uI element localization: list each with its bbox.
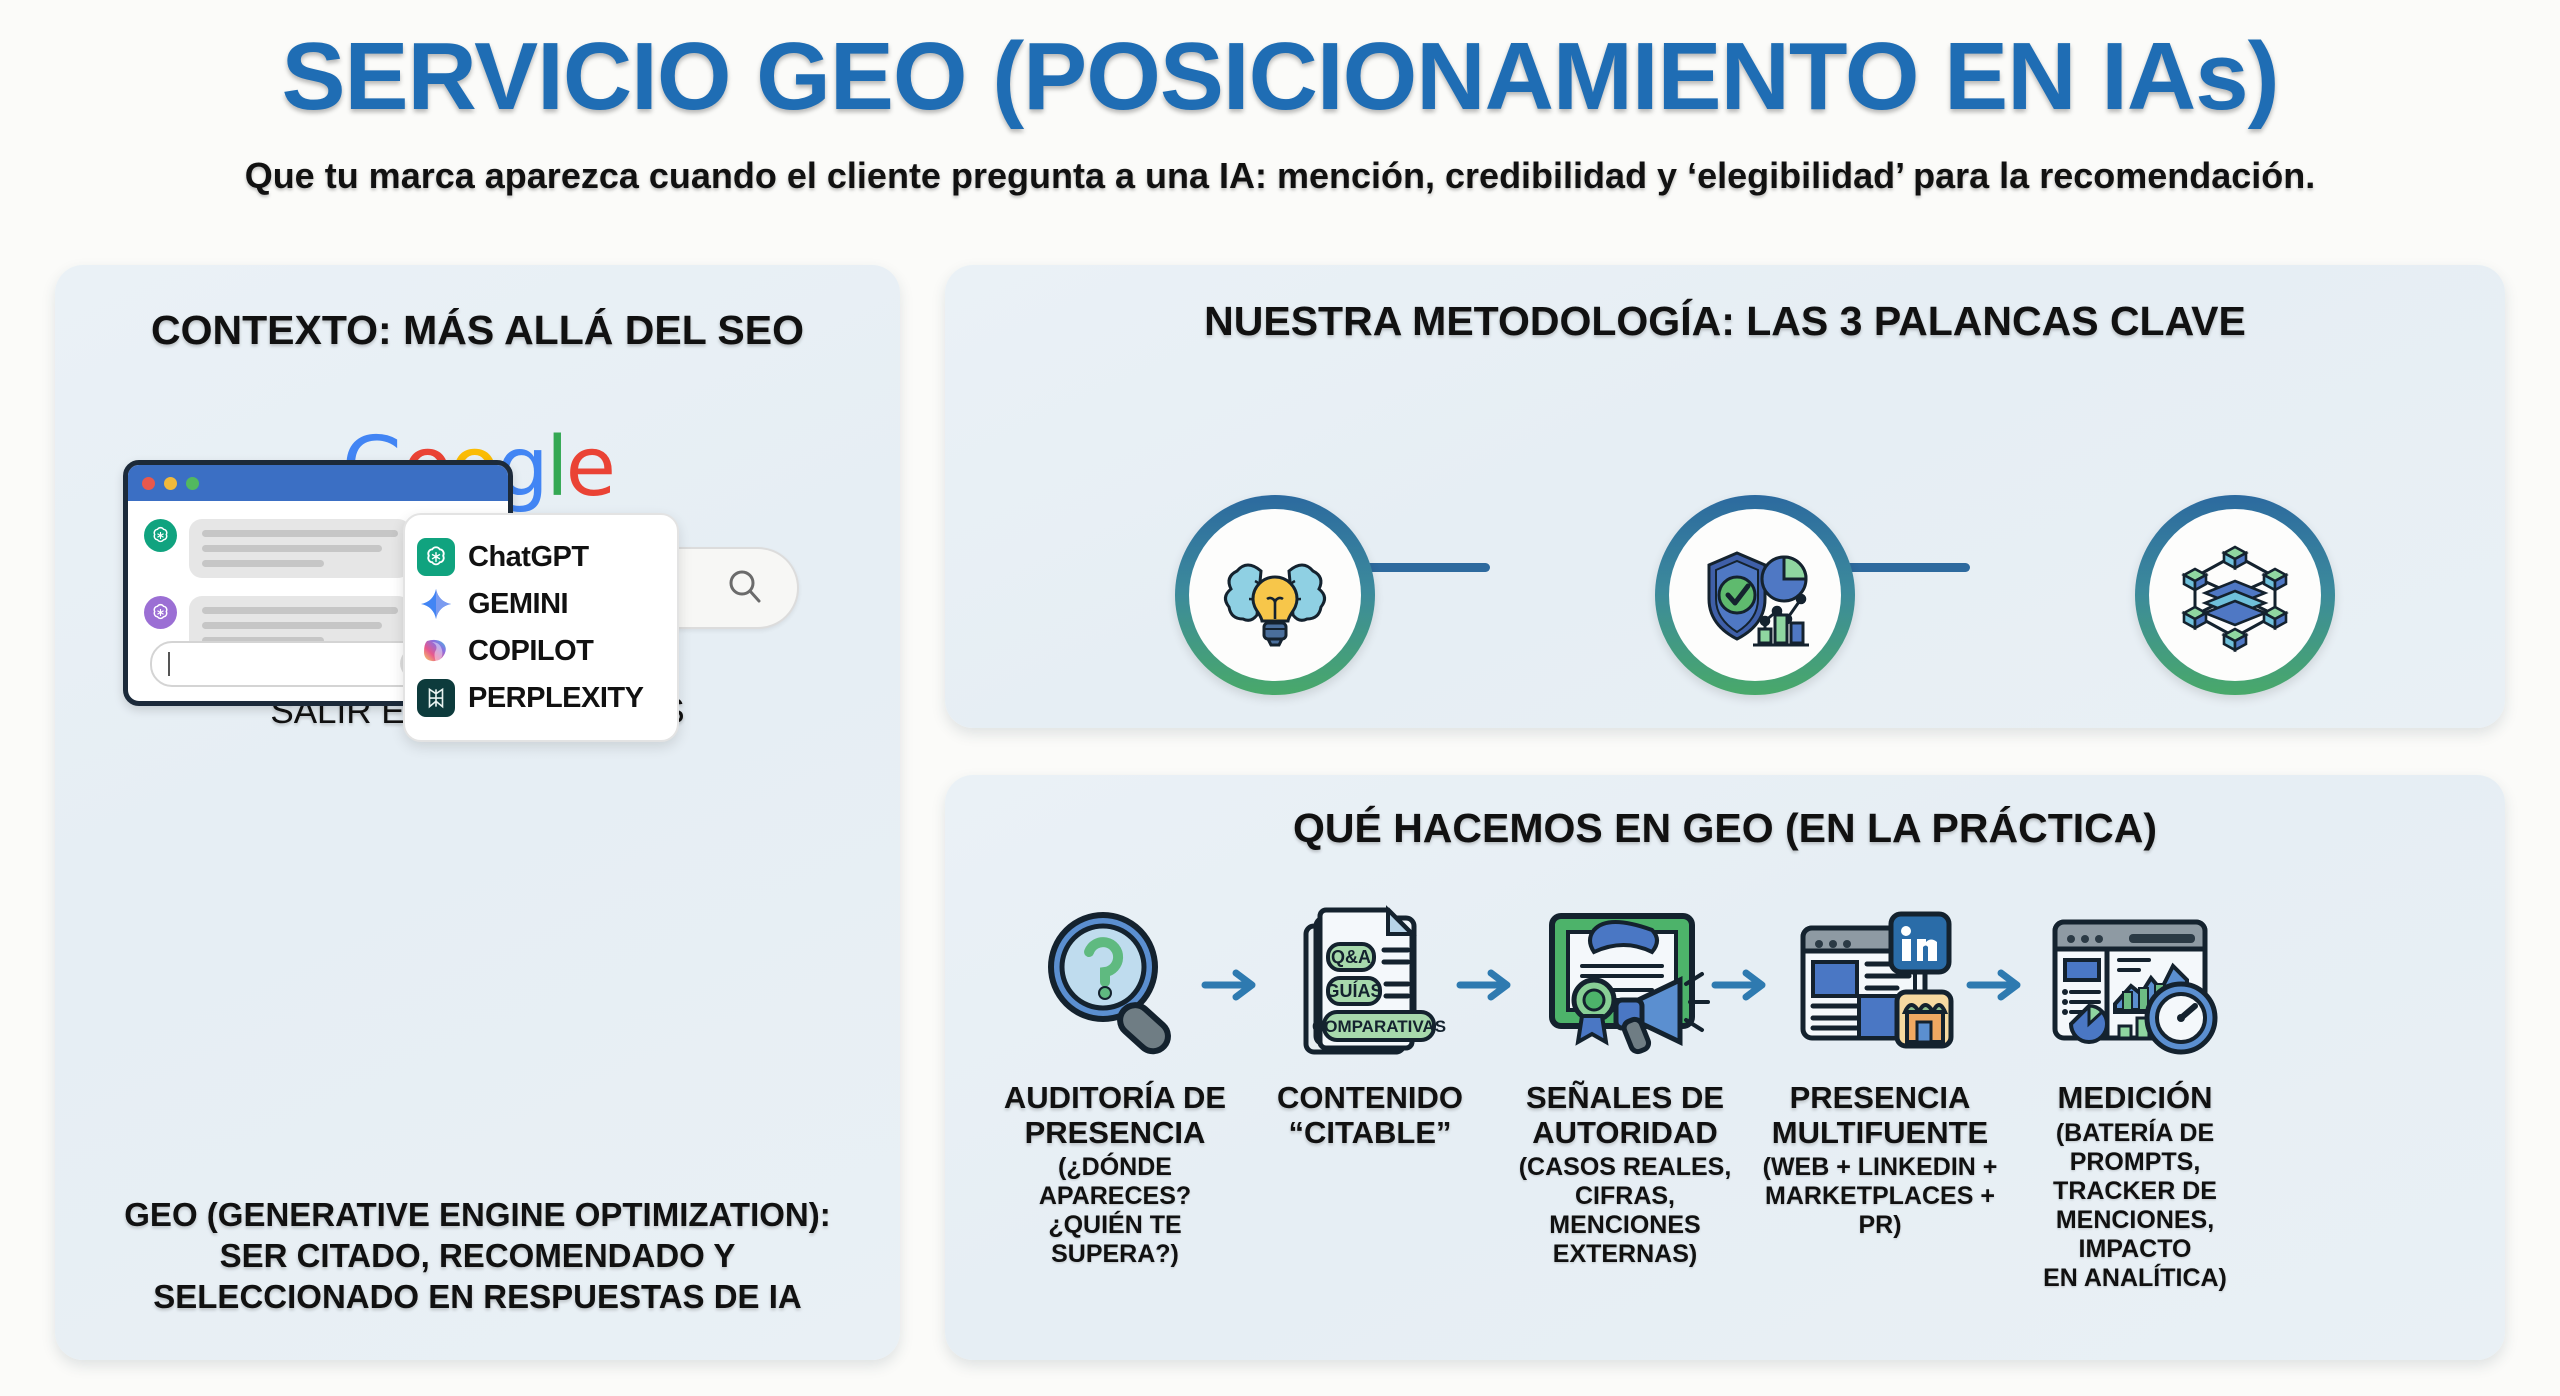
context-panel: CONTEXTO: MÁS ALLÁ DEL SEO Google SEO TR… — [55, 265, 900, 1360]
geo-definition-label: GEO (GENERATIVE ENGINE OPTIMIZATION): SE… — [55, 1195, 900, 1318]
dashboard-gauge-icon — [2010, 890, 2260, 1075]
tag-guias-label: GUÍAS — [1325, 980, 1382, 1001]
ai-engine-name: ChatGPT — [468, 541, 589, 574]
ai-engine-item: PERPLEXITY — [417, 679, 665, 717]
chat-bubble — [189, 519, 411, 578]
assistant-avatar-icon — [144, 596, 177, 629]
practice-panel-title: QUÉ HACEMOS EN GEO (EN LA PRÁCTICA) — [945, 805, 2505, 852]
step-title: CONTENIDO“CITABLE” — [1245, 1081, 1495, 1150]
lever-ring — [1175, 495, 1375, 695]
text-line — [202, 607, 398, 614]
text-line — [202, 530, 398, 537]
gemini-icon — [417, 585, 455, 623]
step-sub: (WEB + LINKEDIN +MARKETPLACES + PR) — [1755, 1153, 2005, 1240]
step-title: MEDICIÓN — [2010, 1081, 2260, 1116]
magnifier-question-icon — [990, 890, 1240, 1075]
step-sub: (BATERÍA DE PROMPTS,TRACKER DEMENCIONES,… — [2010, 1119, 2260, 1293]
ai-engine-item: COPILOT — [417, 632, 665, 670]
lever-ring — [1655, 495, 1855, 695]
chatgpt-icon — [417, 538, 455, 576]
chatgpt-avatar-icon — [144, 519, 177, 552]
step-sub: (CASOS REALES,CIFRAS, MENCIONESEXTERNAS) — [1500, 1153, 1750, 1269]
search-icon — [725, 567, 765, 607]
browser-linkedin-store-icon — [1755, 890, 2005, 1075]
methodology-panel: NUESTRA METODOLOGÍA: LAS 3 PALANCAS CLAV… — [945, 265, 2505, 728]
certificate-megaphone-icon — [1500, 890, 1750, 1075]
tag-comparativas-label: COMPARATIVAS — [1311, 1017, 1445, 1036]
ai-engine-name: GEMINI — [468, 588, 568, 621]
text-caret — [168, 652, 170, 676]
ai-engine-item: ChatGPT — [417, 538, 665, 576]
window-maximize-dot — [186, 477, 199, 490]
text-line — [202, 545, 382, 552]
shield-check-charts-icon — [1669, 509, 1841, 681]
perplexity-icon — [417, 679, 455, 717]
documents-tags-icon: Q&A GUÍAS COMPARATIVAS — [1245, 890, 1495, 1075]
step-title: PRESENCIAMULTIFUENTE — [1755, 1081, 2005, 1150]
lever-evidencia: 2. EVIDENCIA (DATOS, CASOS, CONFIANZA) — [1655, 495, 1855, 695]
ai-engines-card: ChatGPT GEMINI — [403, 513, 679, 742]
chat-prompt-input[interactable]: ↑ — [150, 641, 440, 687]
lever-presencia-multifuente: 3. PRESENCIA MULTIFUENTE (WEB, REDES, ME… — [2135, 495, 2335, 695]
infographic-canvas: SERVICIO GEO (POSICIONAMIENTO EN IAs) Qu… — [0, 0, 2560, 1396]
step-title: SEÑALES DEAUTORIDAD — [1500, 1081, 1750, 1150]
step-sub: (¿DÓNDE APARECES?¿QUIÉN TE SUPERA?) — [990, 1153, 1240, 1269]
practice-step-contenido: Q&A GUÍAS COMPARATIVAS CONTENIDO“CITABLE… — [1245, 890, 1495, 1150]
ai-engine-item: GEMINI — [417, 585, 665, 623]
ai-engine-name: COPILOT — [468, 635, 593, 668]
lever-claridad: 1. CLARIDAD (IA ENTIENDE QUÉ HACES) — [1175, 495, 1375, 695]
browser-titlebar — [128, 465, 508, 501]
text-line — [202, 560, 324, 567]
context-panel-title: CONTEXTO: MÁS ALLÁ DEL SEO — [55, 307, 900, 354]
window-close-dot — [142, 477, 155, 490]
ai-engine-name: PERPLEXITY — [468, 682, 644, 715]
practice-step-auditoria: AUDITORÍA DEPRESENCIA (¿DÓNDE APARECES?¿… — [990, 890, 1240, 1269]
page-subtitle: Que tu marca aparezca cuando el cliente … — [0, 155, 2560, 197]
step-title: AUDITORÍA DEPRESENCIA — [990, 1081, 1240, 1150]
tag-qa-label: Q&A — [1331, 947, 1371, 967]
lever-ring — [2135, 495, 2335, 695]
methodology-panel-title: NUESTRA METODOLOGÍA: LAS 3 PALANCAS CLAV… — [945, 298, 2505, 345]
network-nodes-icon — [2149, 509, 2321, 681]
brain-lightbulb-icon — [1189, 509, 1361, 681]
window-minimize-dot — [164, 477, 177, 490]
google-letter-e: e — [566, 420, 613, 515]
geo-definition-line2: SER CITADO, RECOMENDADO Y — [55, 1236, 900, 1277]
geo-definition-line3: SELECCIONADO EN RESPUESTAS DE IA — [55, 1277, 900, 1318]
copilot-icon — [417, 632, 455, 670]
practice-panel: QUÉ HACEMOS EN GEO (EN LA PRÁCTICA) AUDI… — [945, 775, 2505, 1360]
geo-definition-line1: GEO (GENERATIVE ENGINE OPTIMIZATION): — [55, 1195, 900, 1236]
practice-step-medicion: MEDICIÓN (BATERÍA DE PROMPTS,TRACKER DEM… — [2010, 890, 2260, 1293]
page-title: SERVICIO GEO (POSICIONAMIENTO EN IAs) — [0, 22, 2560, 132]
practice-step-senales: SEÑALES DEAUTORIDAD (CASOS REALES,CIFRAS… — [1500, 890, 1750, 1269]
text-line — [202, 622, 382, 629]
practice-step-presencia: PRESENCIAMULTIFUENTE (WEB + LINKEDIN +MA… — [1755, 890, 2005, 1240]
google-letter-l: l — [546, 420, 566, 515]
